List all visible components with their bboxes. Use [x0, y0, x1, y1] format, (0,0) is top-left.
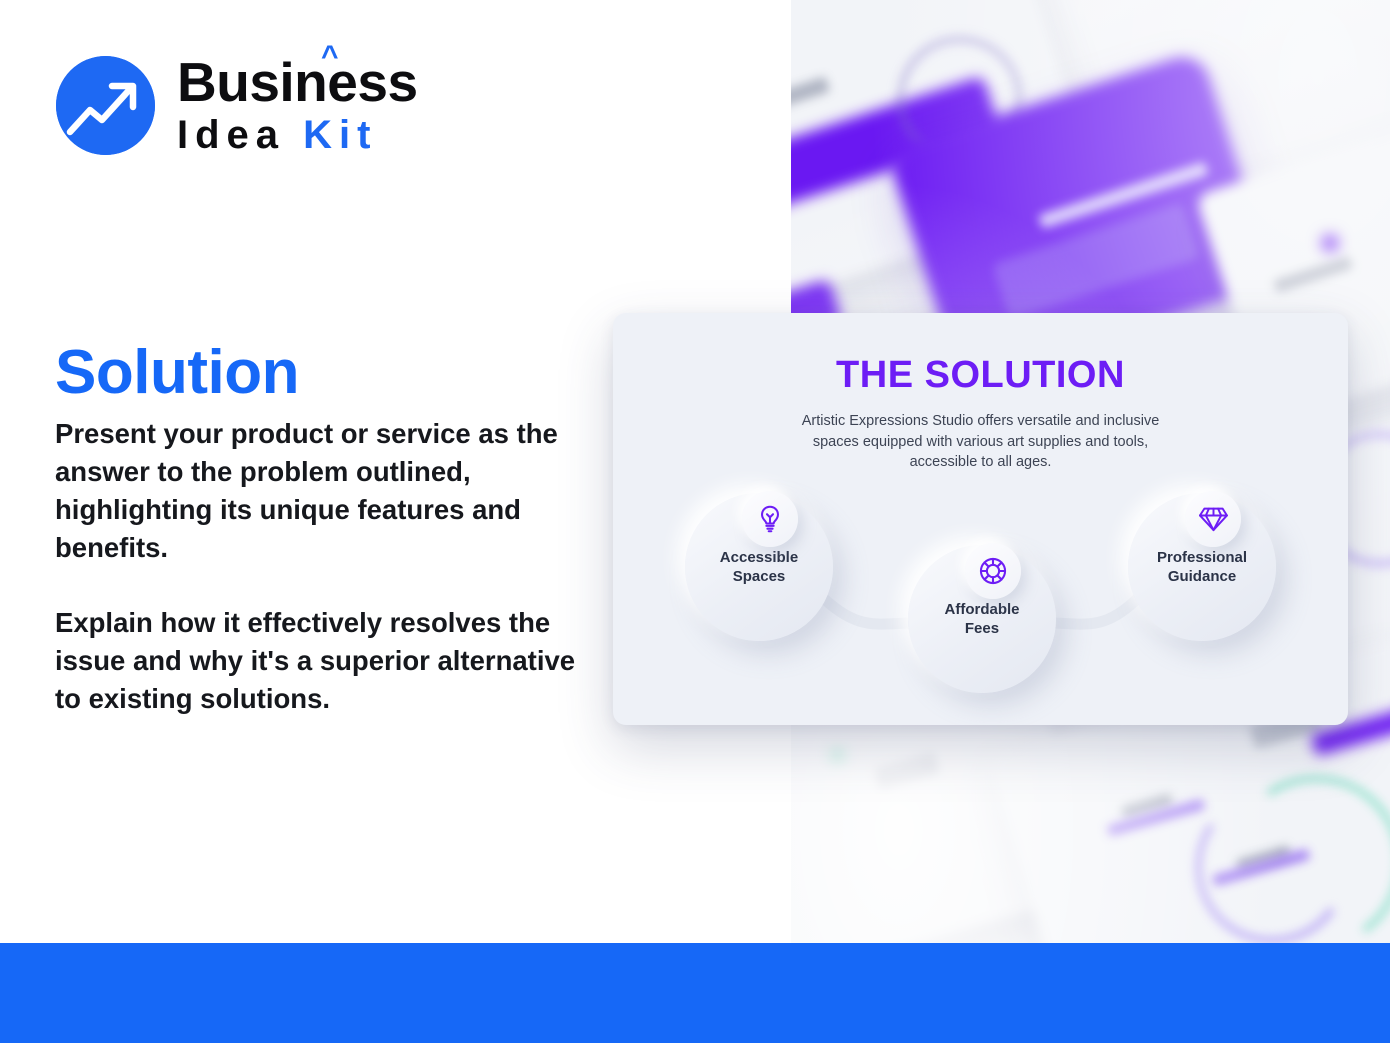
feature-label-line2: Spaces	[733, 568, 786, 585]
feature-label: Affordable Fees	[945, 600, 1020, 638]
blurred-dot	[831, 748, 845, 762]
brand-name-bottom-main: Idea	[177, 113, 303, 157]
feature-label: Accessible Spaces	[720, 548, 798, 586]
brand-wordmark: Business ^ Idea Kit	[177, 55, 418, 155]
brand-name-top: Business ^	[177, 55, 418, 110]
feature-label-line2: Fees	[965, 620, 999, 637]
body-paragraph-1: Present your product or service as the a…	[55, 415, 590, 567]
body-copy: Present your product or service as the a…	[55, 415, 590, 718]
footer-accent-bar	[0, 943, 1390, 1043]
feature-label: Professional Guidance	[1157, 548, 1247, 586]
growth-arrow-circle-icon	[56, 56, 155, 155]
brand-name-top-text: Business	[177, 51, 418, 113]
brand-name-bottom: Idea Kit	[177, 115, 418, 155]
card-title: THE SOLUTION	[613, 354, 1348, 397]
card-subtitle: Artistic Expressions Studio offers versa…	[801, 411, 1161, 473]
diamond-icon	[1185, 491, 1241, 547]
slide-root: Business ^ Idea Kit Solution Present you…	[0, 0, 1390, 1043]
lifebuoy-icon	[965, 543, 1021, 599]
feature-circles-group: Accessible Spaces Affordable Fee	[613, 473, 1348, 725]
brand-name-bottom-accent: Kit	[303, 113, 377, 157]
feature-label-line1: Professional	[1157, 549, 1247, 566]
page-title: Solution	[55, 337, 299, 408]
body-paragraph-2: Explain how it effectively resolves the …	[55, 604, 590, 718]
solution-card: THE SOLUTION Artistic Expressions Studio…	[613, 313, 1348, 725]
brand-circumflex-accent: ^	[321, 42, 338, 72]
brand-logo[interactable]: Business ^ Idea Kit	[56, 55, 418, 155]
feature-label-line2: Guidance	[1168, 568, 1236, 585]
feature-label-line1: Affordable	[945, 601, 1020, 618]
blurred-dot	[1321, 234, 1339, 252]
feature-label-line1: Accessible	[720, 549, 798, 566]
lightbulb-icon	[742, 491, 798, 547]
